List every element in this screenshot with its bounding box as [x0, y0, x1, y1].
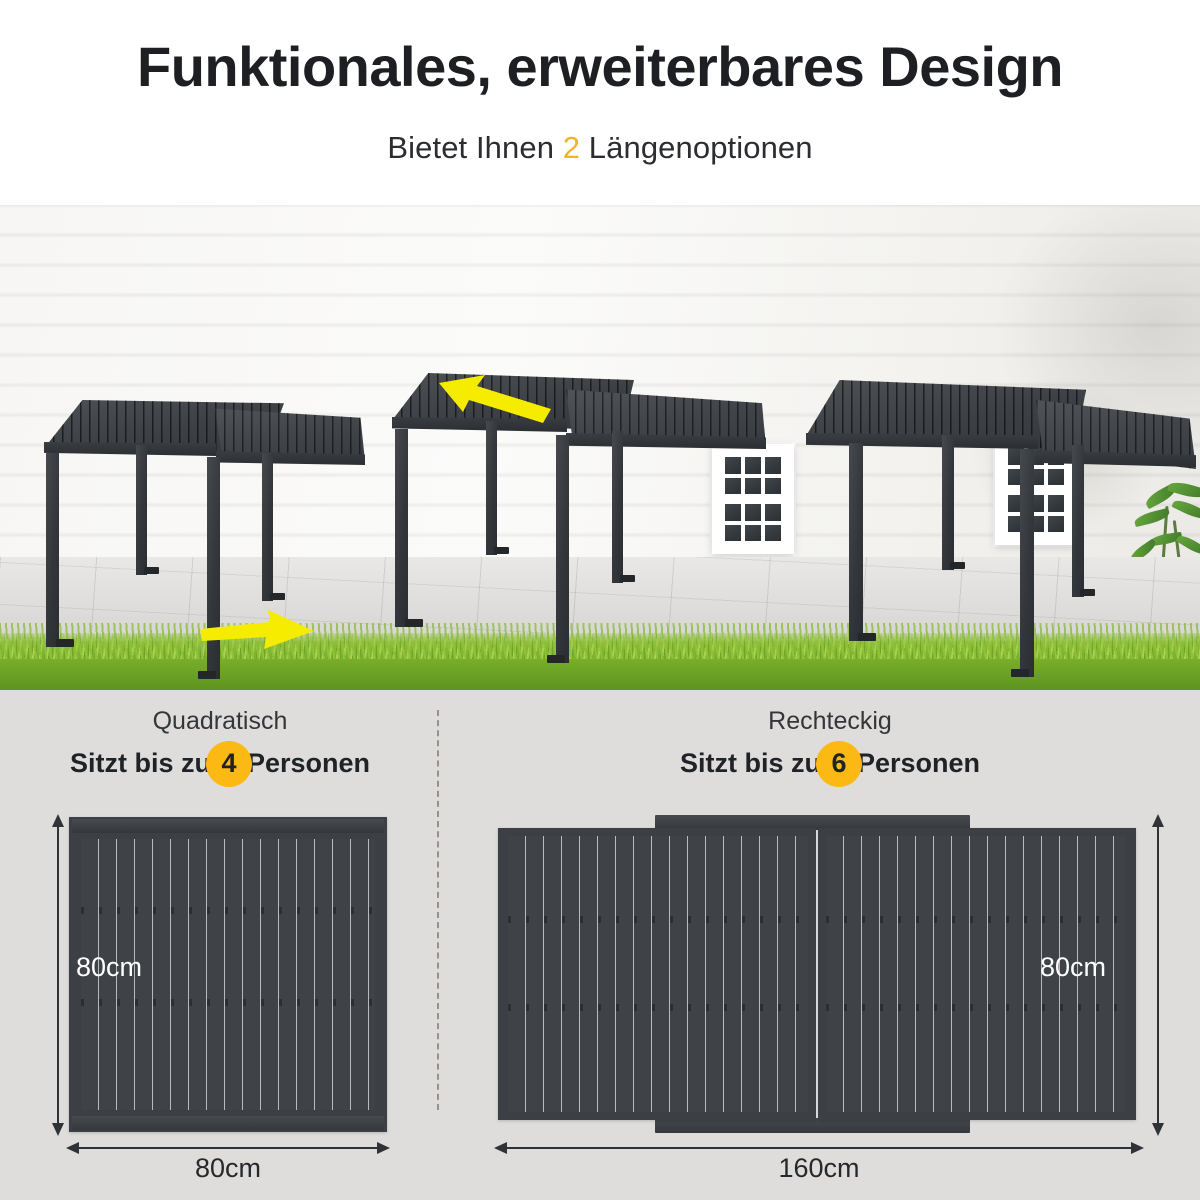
- table-foot: [494, 547, 509, 554]
- table-leg: [1072, 445, 1084, 597]
- table-leg: [486, 421, 497, 555]
- table-leg: [395, 429, 408, 627]
- table-leg: [46, 453, 59, 647]
- product-photo: [0, 205, 1200, 690]
- square-seats-prefix: Sitzt bis zu: [70, 748, 219, 778]
- section-divider: [437, 710, 439, 1110]
- specifications-section: Quadratisch Sitzt bis zu 4 Personen 80cm: [0, 690, 1200, 1200]
- table-extension-rail-bottom: [72, 1116, 384, 1130]
- rect-table-topview-left-panel: [498, 828, 816, 1120]
- window-pane: [765, 478, 781, 495]
- table-foot: [950, 562, 965, 569]
- window-pane: [765, 457, 781, 474]
- square-seats-label: Sitzt bis zu 4 Personen: [20, 748, 420, 779]
- table-foot: [144, 567, 159, 574]
- extend-arrow-up-left: [437, 373, 557, 427]
- rectangular-height-dimension-arrow: [1148, 814, 1168, 1136]
- slat-joint-row: [826, 1004, 1126, 1011]
- table-leg: [136, 445, 147, 575]
- table-slat-field: [508, 836, 808, 1112]
- window-frame-inner: [722, 454, 784, 544]
- window-lower-sash: [1005, 492, 1067, 535]
- page-subtitle: Bietet Ihnen 2 Längenoptionen: [0, 130, 1200, 166]
- plant-leaf: [1171, 497, 1200, 523]
- house-window-left: [712, 444, 794, 554]
- window-pane: [765, 525, 781, 542]
- plant-leaf: [1167, 479, 1200, 501]
- window-lower-sash: [722, 501, 784, 544]
- window-pane: [1048, 516, 1064, 533]
- rectangular-shape-label: Rechteckig: [480, 707, 1180, 736]
- table-foot: [198, 671, 216, 679]
- table-extension-rail-top: [72, 819, 384, 833]
- header-section: Funktionales, erweiterbares Design Biete…: [0, 0, 1200, 205]
- rectangular-seats-prefix: Sitzt bis zu: [680, 748, 829, 778]
- slat-joint-row: [826, 916, 1126, 923]
- window-pane: [745, 457, 761, 474]
- window-pane: [745, 525, 761, 542]
- table-foot: [56, 639, 74, 647]
- window-pane: [745, 478, 761, 495]
- rectangular-seats-label: Sitzt bis zu 6 Personen: [480, 748, 1180, 779]
- slat-joint-row: [81, 907, 375, 914]
- slat-joint-row: [81, 999, 375, 1006]
- subtitle-accent-number: 2: [563, 130, 580, 165]
- infographic-page: Funktionales, erweiterbares Design Biete…: [0, 0, 1200, 1200]
- rectangular-seats-badge: 6: [828, 748, 849, 779]
- extend-arrow-right: [198, 605, 318, 657]
- square-seats-badge: 4: [218, 748, 239, 779]
- window-pane: [1048, 469, 1064, 486]
- slat-joint-row: [508, 916, 808, 923]
- rectangular-width-label: 160cm: [494, 1153, 1144, 1184]
- window-pane: [725, 525, 741, 542]
- rectangular-height-label: 80cm: [1040, 952, 1106, 983]
- window-pane: [745, 504, 761, 521]
- page-title: Funktionales, erweiterbares Design: [0, 38, 1200, 97]
- table-leg: [942, 435, 954, 570]
- square-seats-suffix: Personen: [239, 748, 370, 778]
- subtitle-text-before: Bietet Ihnen: [387, 130, 562, 165]
- table-foot: [1011, 669, 1029, 677]
- table-foot: [620, 575, 635, 582]
- rect-panel-seam: [816, 830, 818, 1118]
- square-shape-label: Quadratisch: [20, 707, 420, 736]
- window-pane: [725, 478, 741, 495]
- table-leg: [556, 435, 569, 663]
- window-pane: [1048, 495, 1064, 512]
- window-pane: [765, 504, 781, 521]
- table-foot: [858, 633, 876, 641]
- table-leg: [612, 431, 623, 583]
- table-foot: [405, 619, 423, 627]
- slat-joint-row: [508, 1004, 808, 1011]
- window-pane: [725, 504, 741, 521]
- window-pane: [725, 457, 741, 474]
- subtitle-text-after: Längenoptionen: [580, 130, 813, 165]
- table-leg: [849, 443, 863, 641]
- table-foot: [547, 655, 565, 663]
- rectangular-seats-suffix: Personen: [849, 748, 980, 778]
- window-upper-sash: [722, 454, 784, 497]
- square-height-dimension-arrow: [48, 814, 68, 1136]
- table-foot: [270, 593, 285, 600]
- square-width-label: 80cm: [68, 1153, 388, 1184]
- table-leg: [262, 453, 273, 601]
- table-foot: [1080, 589, 1095, 596]
- square-height-label: 80cm: [76, 952, 142, 983]
- table-leg: [1020, 449, 1034, 677]
